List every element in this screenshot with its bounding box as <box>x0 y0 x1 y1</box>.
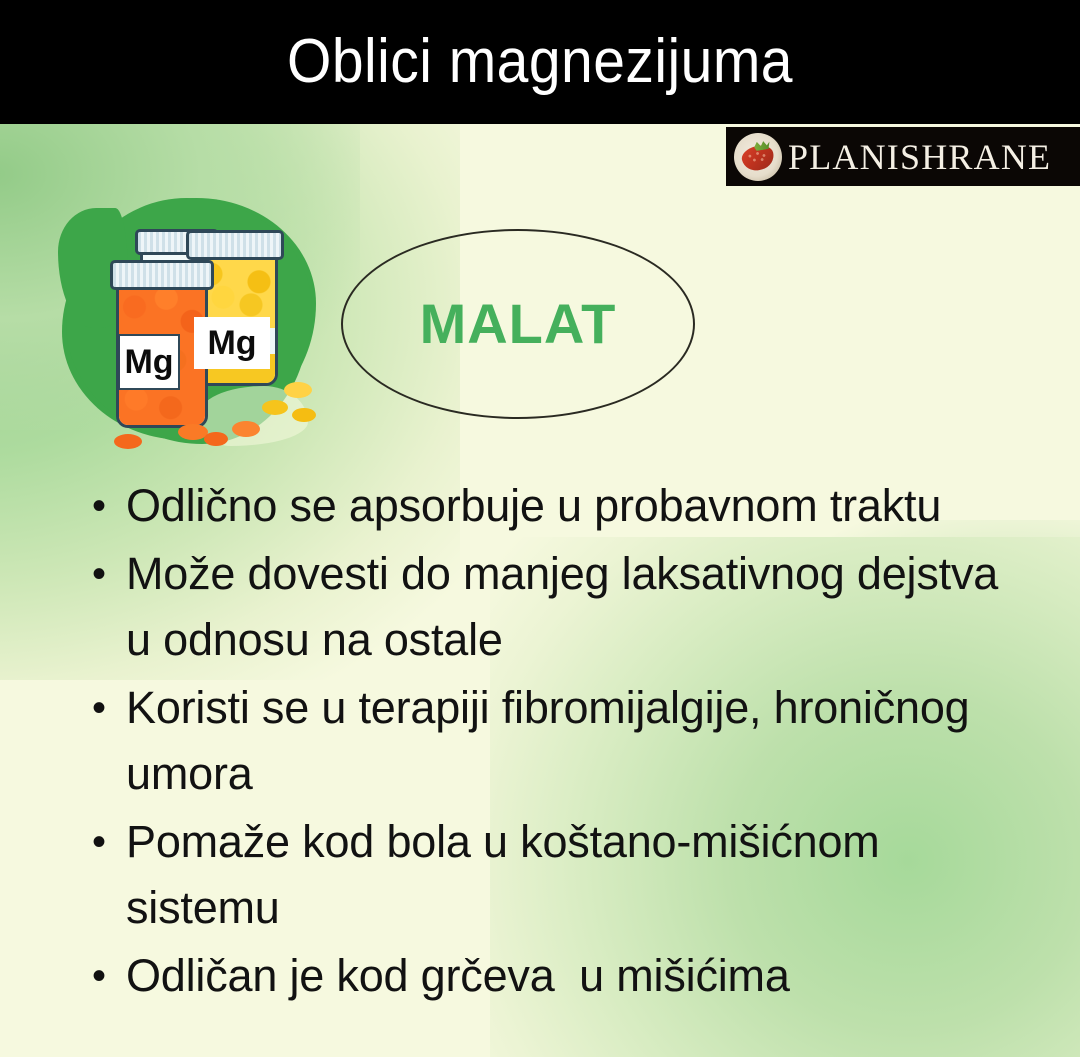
list-item-text: Koristi se u terapiji fibromijalgije, hr… <box>126 675 1012 807</box>
list-item: • Odličan je kod grčeva u mišićima <box>92 943 1012 1009</box>
list-item-text: Može dovesti do manjeg laksativnog dejst… <box>126 541 1012 673</box>
brand-name: PLANISHRANE <box>788 139 1051 175</box>
list-item-text: Odličan je kod grčeva u mišićima <box>126 943 1012 1009</box>
malat-badge: MALAT <box>341 229 695 419</box>
loose-pill <box>114 434 142 449</box>
pill-bottle-front-cap <box>110 260 214 290</box>
list-item: • Odlično se apsorbuje u probavnom trakt… <box>92 473 1012 539</box>
bullet-marker-icon: • <box>92 675 126 741</box>
bullet-marker-icon: • <box>92 541 126 607</box>
supplement-bottles-illustration: Mg Mg <box>52 186 324 454</box>
bullet-marker-icon: • <box>92 473 126 539</box>
list-item-text: Pomaže kod bola u koštano-mišićnom siste… <box>126 809 1012 941</box>
loose-pill <box>262 400 288 415</box>
list-item: • Koristi se u terapiji fibromijalgije, … <box>92 675 1012 807</box>
strawberry-icon <box>734 133 782 181</box>
loose-pill <box>204 432 228 446</box>
brand-bar[interactable]: PLANISHRANE <box>726 127 1080 186</box>
pill-bottle-right-cap <box>186 230 284 260</box>
list-item: • Pomaže kod bola u koštano-mišićnom sis… <box>92 809 1012 941</box>
malat-label: MALAT <box>420 296 617 352</box>
bullet-marker-icon: • <box>92 943 126 1009</box>
bottle-right-label: Mg <box>194 317 270 369</box>
loose-pill <box>232 421 260 437</box>
list-item: • Može dovesti do manjeg laksativnog dej… <box>92 541 1012 673</box>
page-title: Oblici magnezijuma <box>287 31 793 93</box>
loose-pill <box>284 382 312 398</box>
title-bar: Oblici magnezijuma <box>0 0 1080 124</box>
list-item-text: Odlično se apsorbuje u probavnom traktu <box>126 473 1012 539</box>
loose-pill <box>292 408 316 422</box>
poster-root: Oblici magnezijuma PLANISHRANE Mg Mg <box>0 0 1080 1057</box>
benefits-list: • Odlično se apsorbuje u probavnom trakt… <box>92 473 1012 1011</box>
bottle-front-label: Mg <box>118 334 180 390</box>
bullet-marker-icon: • <box>92 809 126 875</box>
